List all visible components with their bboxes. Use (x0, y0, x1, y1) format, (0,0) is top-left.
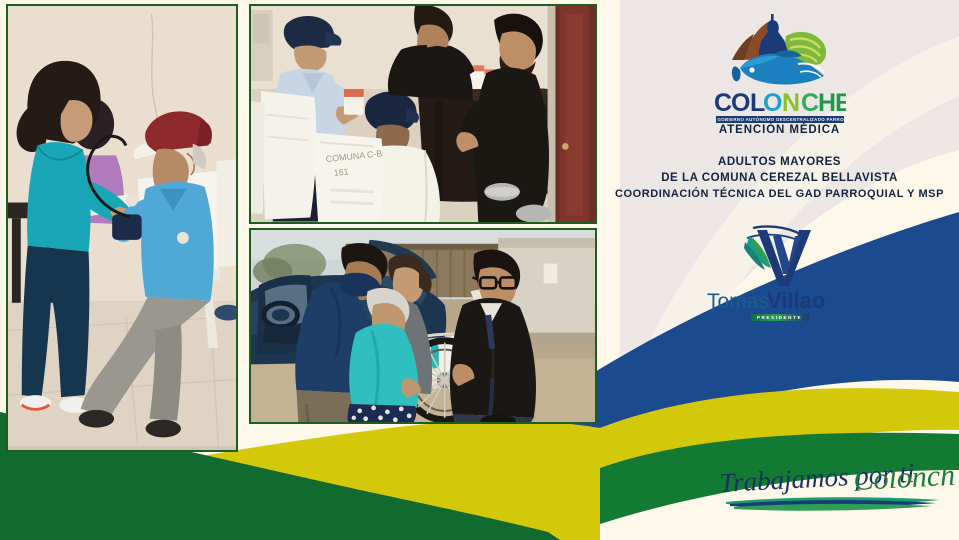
svg-text:161: 161 (333, 167, 349, 178)
photo-wheelchair-delivery (249, 228, 597, 424)
headline-line-3: COORDINACIÓN TÉCNICA DEL GAD PARROQUIAL … (600, 187, 959, 203)
headline-line-2: DE LA COMUNA CEREZAL BELLAVISTA (600, 170, 959, 186)
headline-line-1: ADULTOS MAYORES (600, 154, 959, 170)
colonche-subtitle: GOBIERNO AUTÓNOMO DESCENTRALIZADO PARROQ… (716, 116, 844, 124)
photo-medication-distribution: COMUNA C-B 161 (249, 4, 597, 224)
right-content-column: C O L O N C H E GOBIERNO AUTÓNOMO DESCEN… (600, 0, 959, 540)
tomas-villao-logo: Tomas Villao PRESIDENTE (696, 222, 864, 321)
tomas-villao-monogram-icon (737, 222, 823, 288)
tomas-villao-wordmark: Tomas Villao (705, 289, 855, 313)
svg-text:O: O (763, 89, 782, 115)
slogan-script: Trabajamos por ti Colonche (718, 452, 956, 514)
slogan-text: Trabajamos por ti Colonche (718, 514, 719, 515)
slogan-block: Trabajamos por ti Colonche Trabajamos po… (718, 452, 956, 514)
svg-text:C: C (714, 89, 732, 115)
svg-text:C: C (801, 89, 819, 115)
tomas-villao-role: PRESIDENTE (751, 314, 809, 321)
svg-text:Villao: Villao (767, 289, 825, 313)
colonche-logo: C O L O N C H E GOBIERNO AUTÓNOMO DESCEN… (713, 14, 847, 123)
poster-canvas: COMUNA C-B 161 (0, 0, 959, 540)
photo-blood-pressure-illustration (8, 6, 236, 446)
svg-text:Tomas: Tomas (707, 290, 769, 313)
photo-wheelchair-illustration (251, 230, 595, 424)
photo-medication-illustration: COMUNA C-B 161 (251, 6, 595, 223)
svg-text:E: E (835, 89, 846, 115)
svg-text:H: H (818, 89, 836, 115)
headline-main: ATENCIÓN MÉDICA (600, 124, 959, 136)
svg-text:N: N (782, 89, 800, 115)
headline-block: ATENCIÓN MÉDICA ADULTOS MAYORES DE LA CO… (600, 124, 959, 202)
photo-blood-pressure-check (6, 4, 238, 452)
colonche-emblem-icon (728, 14, 832, 88)
svg-text:O: O (731, 89, 750, 115)
svg-text:Colonche: Colonche (853, 458, 956, 497)
colonche-wordmark: C O L O N C H E (714, 89, 846, 115)
headline-lines: ADULTOS MAYORES DE LA COMUNA CEREZAL BEL… (600, 154, 959, 202)
